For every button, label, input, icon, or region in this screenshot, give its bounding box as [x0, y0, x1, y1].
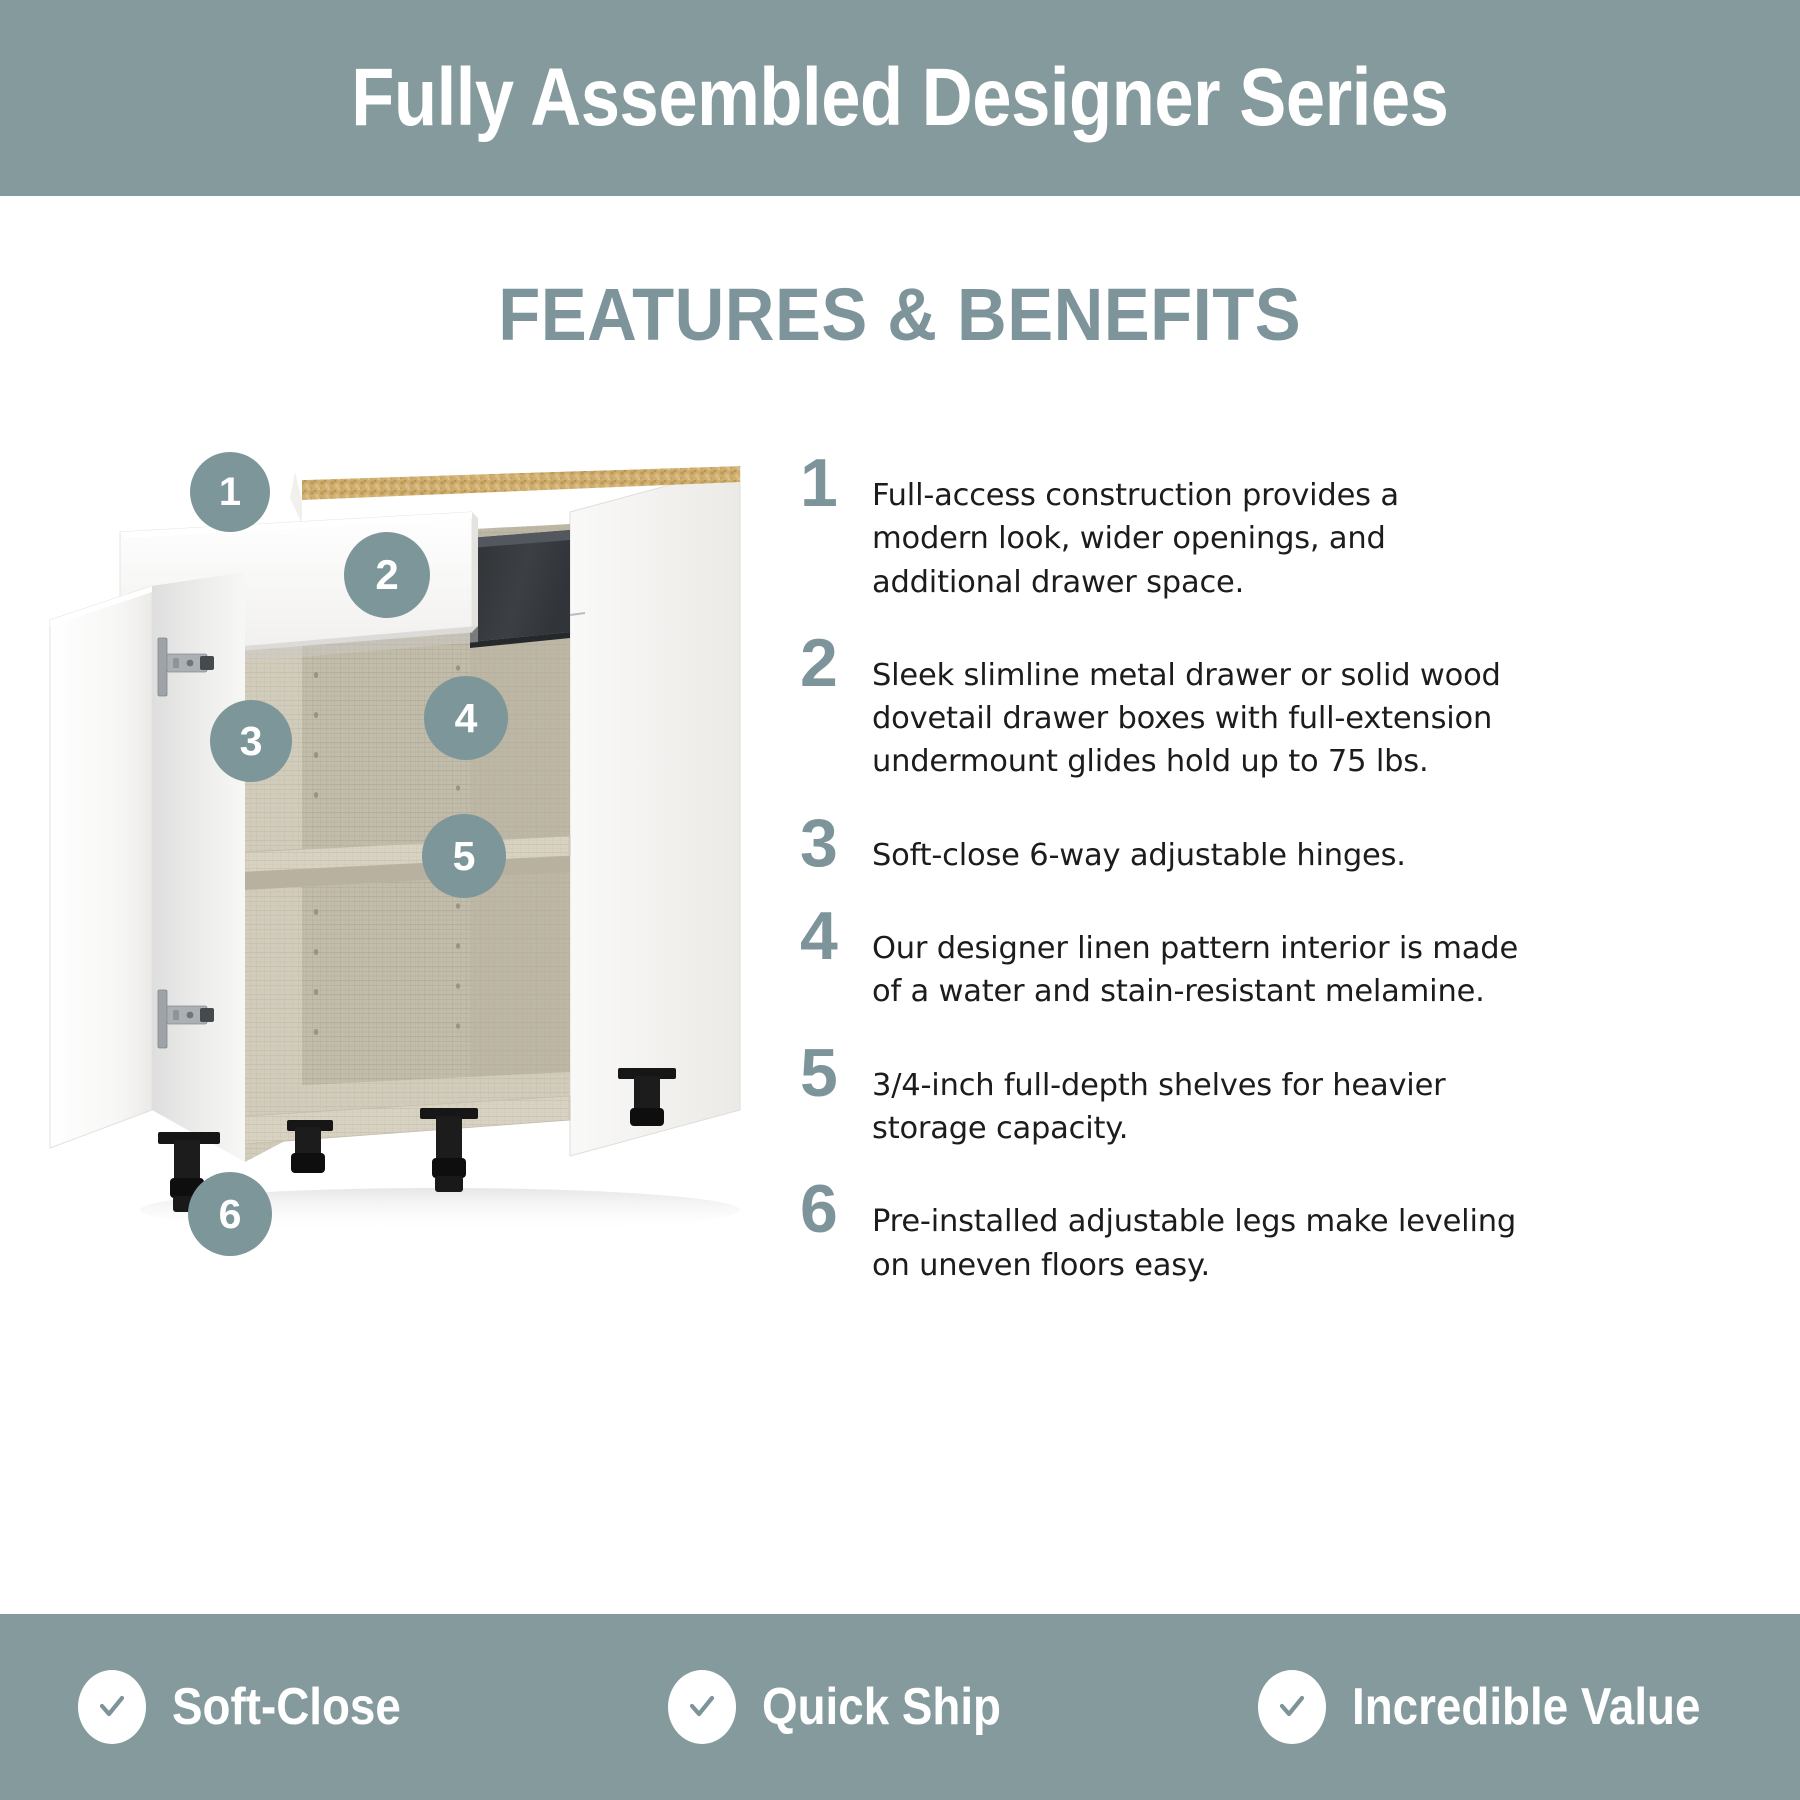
section-heading: FEATURES & BENEFITS	[0, 278, 1800, 352]
callout-badge-2-number: 2	[375, 554, 398, 596]
adjustable-leg-front-right	[287, 1120, 333, 1173]
feature-number-2: 2	[800, 632, 872, 692]
callout-badge-6[interactable]: 6	[188, 1172, 272, 1256]
footer-bar: Soft-Close Quick Ship Incredible Value	[0, 1614, 1800, 1800]
feature-number-3: 3	[800, 812, 872, 872]
feature-text-3: Soft-close 6-way adjustable hinges.	[872, 812, 1520, 877]
feature-text-6: Pre-installed adjustable legs make level…	[872, 1178, 1520, 1287]
feature-item-3: 3 Soft-close 6-way adjustable hinges.	[800, 812, 1520, 877]
infographic-page: Fully Assembled Designer Series FEATURES…	[0, 0, 1800, 1800]
callout-badge-2[interactable]: 2	[344, 532, 430, 618]
callout-badge-1-number: 1	[219, 472, 241, 512]
footer-label-soft-close: Soft-Close	[172, 1681, 401, 1733]
cabinet-door-outer	[50, 586, 152, 1148]
feature-text-4: Our designer linen pattern interior is m…	[872, 905, 1520, 1014]
feature-text-1: Full-access construction provides a mode…	[872, 452, 1520, 604]
footer-badge-quick-ship: Quick Ship	[668, 1670, 1034, 1744]
feature-number-1: 1	[800, 452, 872, 512]
cabinet-right-side	[570, 466, 740, 1156]
feature-item-5: 5 3/4-inch full-depth shelves for heavie…	[800, 1042, 1520, 1151]
feature-number-5: 5	[800, 1042, 872, 1102]
features-list: 1 Full-access construction provides a mo…	[800, 452, 1520, 1315]
check-circle-icon	[668, 1670, 736, 1744]
callout-badge-4[interactable]: 4	[424, 676, 508, 760]
footer-badge-incredible-value: Incredible Value	[1258, 1670, 1748, 1744]
feature-item-6: 6 Pre-installed adjustable legs make lev…	[800, 1178, 1520, 1287]
check-circle-icon	[78, 1670, 146, 1744]
check-circle-icon	[1258, 1670, 1326, 1744]
feature-number-4: 4	[800, 905, 872, 965]
callout-badge-5[interactable]: 5	[422, 814, 506, 898]
header-bar: Fully Assembled Designer Series	[0, 0, 1800, 196]
callout-badge-1[interactable]: 1	[190, 452, 270, 532]
footer-label-quick-ship: Quick Ship	[762, 1681, 1001, 1733]
footer-badge-soft-close: Soft-Close	[78, 1670, 432, 1744]
page-title: Fully Assembled Designer Series	[351, 57, 1448, 139]
feature-item-4: 4 Our designer linen pattern interior is…	[800, 905, 1520, 1014]
callout-badge-4-number: 4	[455, 698, 478, 739]
drawer-front-right-edge	[472, 512, 478, 632]
section-heading-text: FEATURES & BENEFITS	[499, 278, 1302, 352]
feature-text-2: Sleek slimline metal drawer or solid woo…	[872, 632, 1520, 784]
callout-badge-5-number: 5	[453, 836, 476, 877]
callout-badge-3[interactable]: 3	[210, 700, 292, 782]
feature-text-5: 3/4-inch full-depth shelves for heavier …	[872, 1042, 1520, 1151]
callout-badge-6-number: 6	[219, 1194, 242, 1235]
footer-label-incredible-value: Incredible Value	[1352, 1681, 1700, 1733]
feature-item-2: 2 Sleek slimline metal drawer or solid w…	[800, 632, 1520, 784]
feature-number-6: 6	[800, 1178, 872, 1238]
callout-badge-3-number: 3	[240, 721, 263, 762]
product-image: 1 2 3 4 5 6	[40, 420, 800, 1320]
feature-item-1: 1 Full-access construction provides a mo…	[800, 452, 1520, 604]
